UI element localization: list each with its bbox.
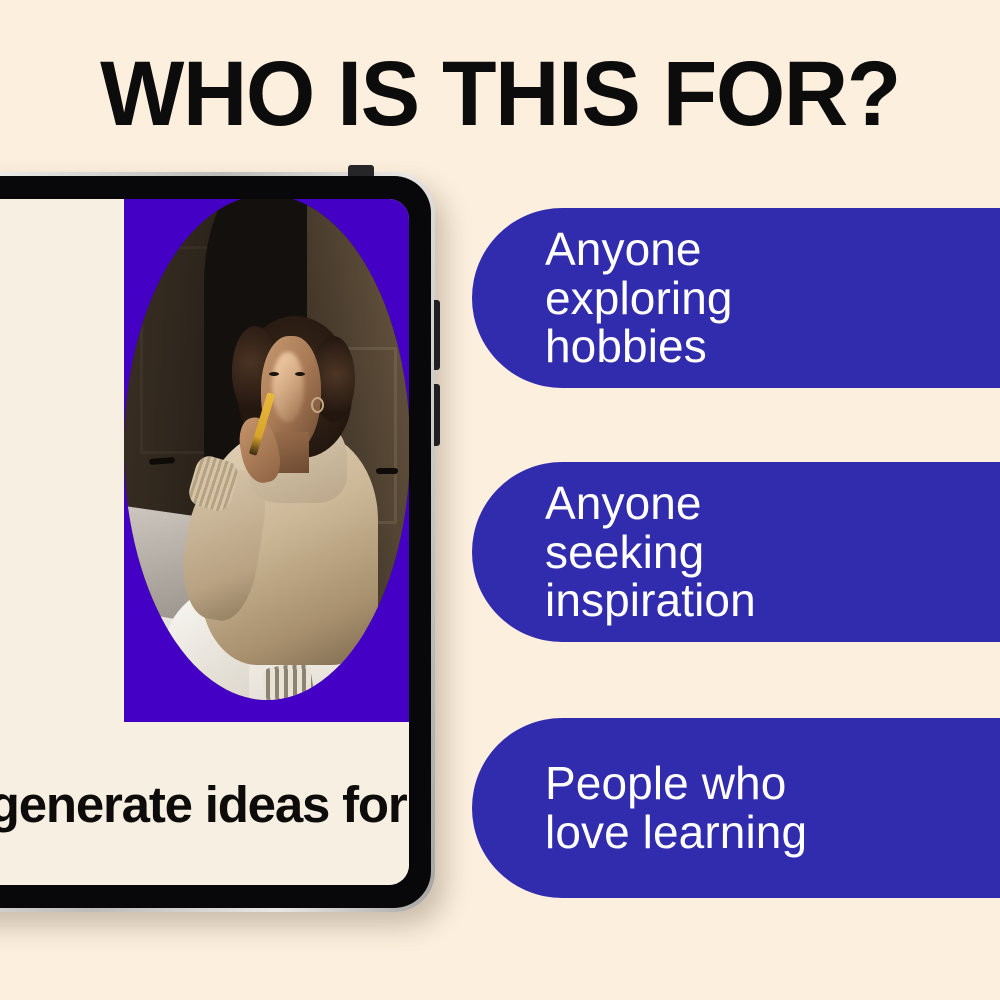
oval-photo — [124, 199, 409, 700]
volume-down-button[interactable] — [434, 384, 440, 446]
eye-left — [269, 372, 279, 376]
screen-left-panel: Gift Inside — [0, 199, 124, 722]
audience-pill-1-label: Anyone exploring hobbies — [472, 225, 902, 371]
screen-purple-panel — [124, 199, 409, 722]
eye-right — [295, 372, 305, 376]
poster-canvas: WHO IS THIS FOR? Gift Inside — [0, 0, 1000, 1000]
device-bezel: Gift Inside — [0, 176, 431, 908]
screen-headline: using ai to generate ideas for your hobb… — [0, 776, 409, 833]
screen-lower-section: using ai to generate ideas for your hobb… — [0, 722, 409, 885]
face-highlight — [272, 352, 303, 423]
tablet-device-mockup: Gift Inside — [0, 172, 435, 912]
device-screen[interactable]: Gift Inside — [0, 199, 409, 885]
page-title: WHO IS THIS FOR? — [15, 48, 985, 140]
neck — [275, 432, 309, 472]
audience-pill-1[interactable]: Anyone exploring hobbies — [472, 208, 1000, 388]
audience-pill-2[interactable]: Anyone seeking inspiration — [472, 462, 1000, 642]
screen-upper-section: Gift Inside — [0, 199, 409, 722]
photo-scene — [124, 199, 409, 700]
volume-up-button[interactable] — [434, 300, 440, 370]
door-handle-left — [149, 457, 175, 465]
audience-pill-3[interactable]: People who love learning — [472, 718, 1000, 898]
power-button[interactable] — [348, 165, 374, 176]
door-handle-right — [376, 468, 398, 474]
audience-pill-3-label: People who love learning — [472, 759, 902, 857]
audience-pill-2-label: Anyone seeking inspiration — [472, 479, 902, 625]
striped-sock — [260, 661, 315, 700]
